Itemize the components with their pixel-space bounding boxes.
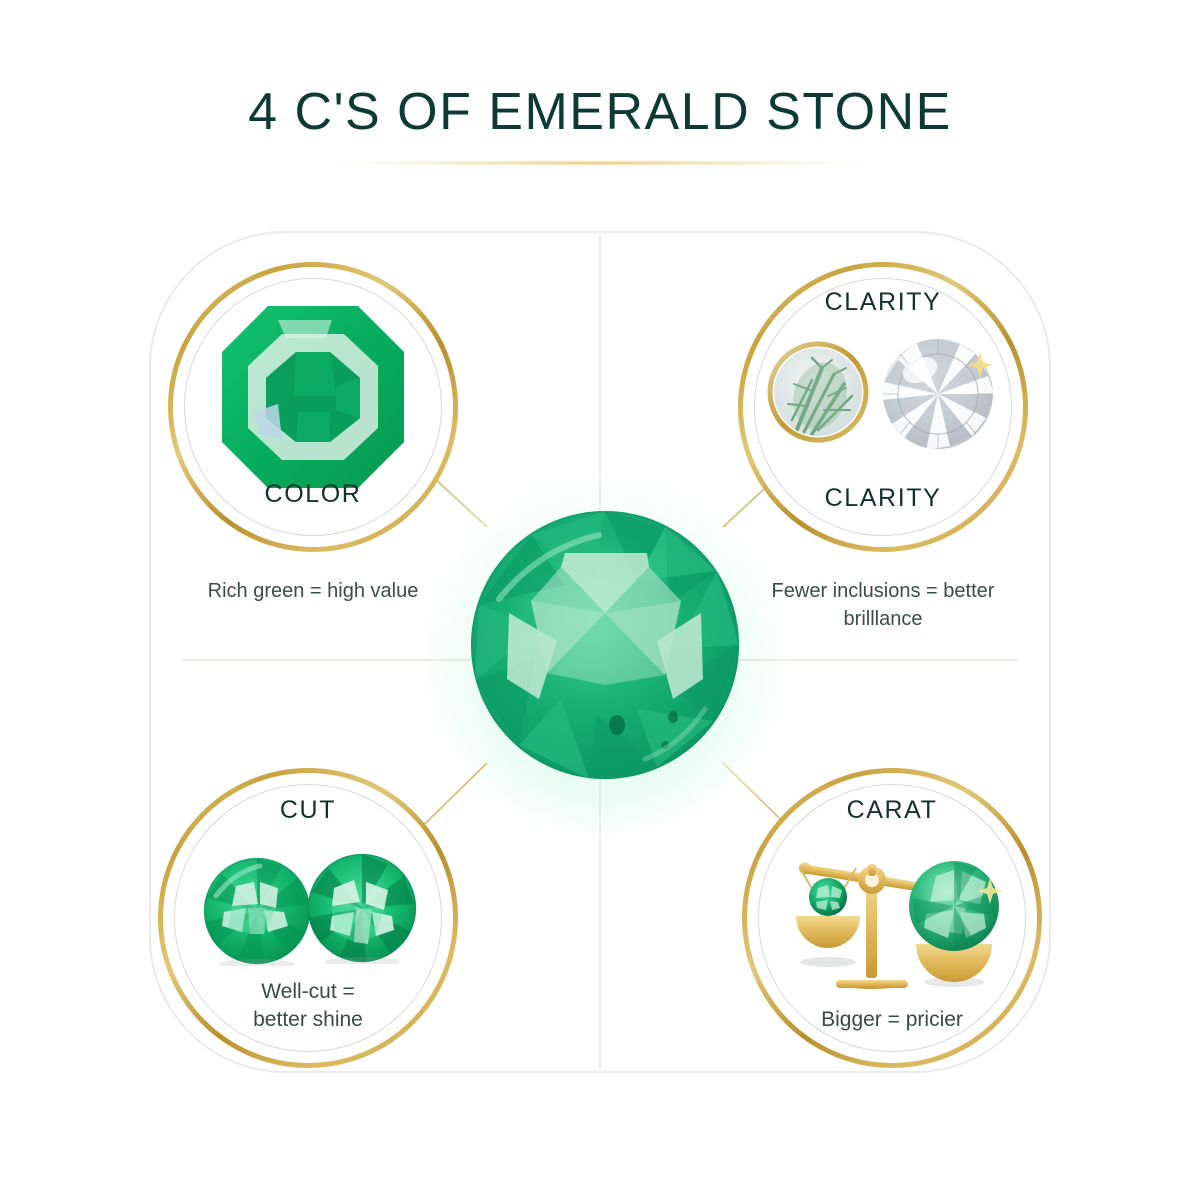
round-emerald-gem-right-icon <box>306 852 418 964</box>
node-clarity-caption: Fewer inclusions = better brilllance <box>748 578 1018 633</box>
node-carat[interactable]: CARAT <box>742 768 1042 1068</box>
emerald-cut-gemstone-icon <box>216 300 410 494</box>
scale-pan-right <box>909 861 1003 982</box>
node-clarity-caption-line2: brilllance <box>748 606 1018 634</box>
white-brilliant-diamond-icon <box>880 336 996 452</box>
node-cut-label: CUT <box>158 796 458 825</box>
node-cut-caption-line2: better shine <box>158 1006 458 1034</box>
node-clarity-label-bottom: CLARITY <box>738 484 1028 513</box>
node-clarity[interactable]: CLARITY <box>738 262 1028 552</box>
node-color-label: COLOR <box>168 480 458 509</box>
node-cut[interactable]: CUT <box>158 768 458 1068</box>
node-clarity-label-top: CLARITY <box>738 288 1028 317</box>
round-emerald-gem-left-icon <box>202 856 312 966</box>
node-carat-caption: Bigger = pricier <box>742 1006 1042 1034</box>
inclusion-swatch-icon <box>766 340 870 444</box>
node-cut-caption: Well-cut = better shine <box>158 978 458 1033</box>
node-clarity-caption-line1: Fewer inclusions = better <box>748 578 1018 606</box>
balance-scale-with-gems-icon <box>776 840 1008 1000</box>
node-cut-caption-line1: Well-cut = <box>158 978 458 1006</box>
node-carat-label: CARAT <box>742 796 1042 825</box>
center-emerald-gem <box>469 509 741 781</box>
node-color[interactable]: COLOR <box>168 262 458 552</box>
infographic-canvas: 4 C'S OF EMERALD STONE <box>0 0 1200 1200</box>
node-color-caption: Rich green = high value <box>168 578 458 606</box>
